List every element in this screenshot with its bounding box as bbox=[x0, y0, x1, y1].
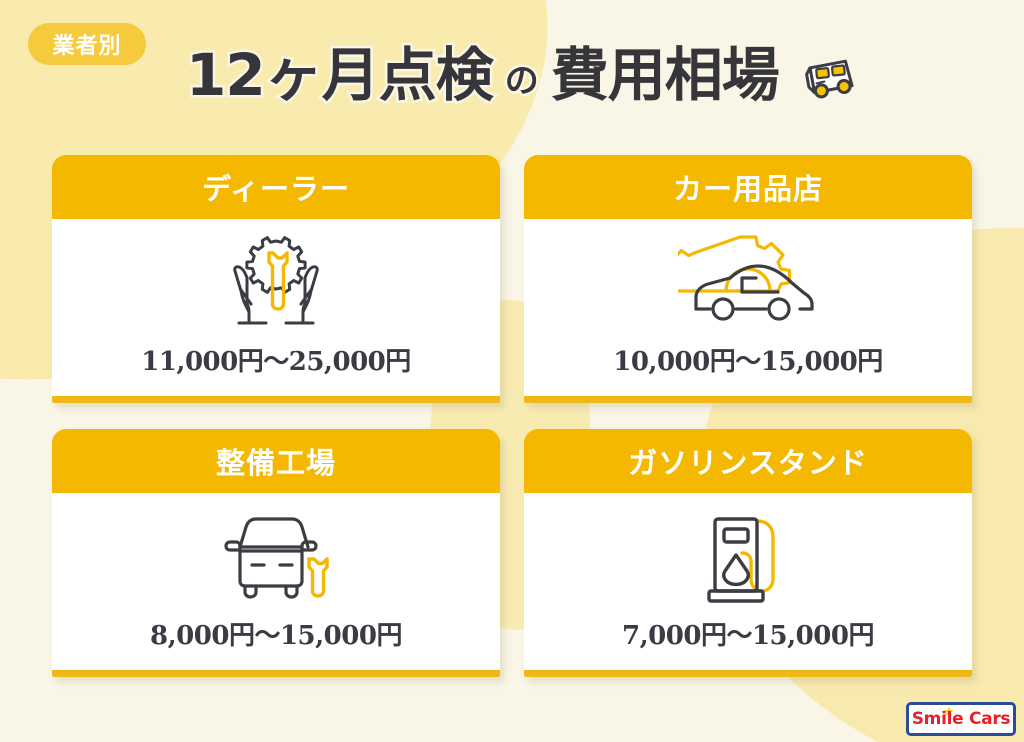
price-card-title: 整備工場 bbox=[216, 440, 336, 482]
price-card-title: ディーラー bbox=[202, 166, 350, 208]
price-card-repair-shop[interactable]: 整備工場 bbox=[52, 429, 500, 677]
brand-logo-text: Smile Cars bbox=[912, 709, 1011, 729]
hands-gear-wrench-icon bbox=[211, 229, 341, 337]
category-badge-label: 業者別 bbox=[52, 28, 121, 60]
category-badge: 業者別 bbox=[28, 23, 146, 65]
price-card-footer-bar bbox=[524, 670, 972, 677]
car-front-wrench-icon bbox=[214, 503, 339, 611]
price-card-body: 8,000円〜15,000円 bbox=[52, 493, 500, 670]
price-card-header: ディーラー bbox=[52, 155, 500, 219]
fuel-pump-icon bbox=[691, 503, 806, 611]
price-card-header: 整備工場 bbox=[52, 429, 500, 493]
page-title: 12ヶ月点検 の 費用相場 bbox=[186, 36, 859, 114]
price-card-footer-bar bbox=[52, 396, 500, 403]
price-card-footer-bar bbox=[52, 670, 500, 677]
price-card-amount: 8,000円〜15,000円 bbox=[150, 615, 402, 652]
price-card-header: カー用品店 bbox=[524, 155, 972, 219]
price-card-amount: 10,000円〜15,000円 bbox=[613, 341, 883, 378]
car-gear-icon bbox=[678, 229, 818, 337]
price-card-grid: ディーラー bbox=[52, 155, 972, 691]
page-title-sub: 費用相場 bbox=[551, 46, 779, 104]
price-card-body: 7,000円〜15,000円 bbox=[524, 493, 972, 670]
van-icon bbox=[799, 54, 859, 104]
price-card-auto-parts-store[interactable]: カー用品店 bbox=[524, 155, 972, 403]
price-card-gas-station[interactable]: ガソリンスタンド 7, bbox=[524, 429, 972, 677]
price-card-title: ガソリンスタンド bbox=[628, 440, 867, 482]
price-card-body: 11,000円〜25,000円 bbox=[52, 219, 500, 396]
price-card-header: ガソリンスタンド bbox=[524, 429, 972, 493]
price-card-footer-bar bbox=[524, 396, 972, 403]
page-header: 業者別 12ヶ月点検 の 費用相場 bbox=[0, 0, 1024, 140]
price-card-title: カー用品店 bbox=[673, 166, 823, 208]
page-title-main: 12ヶ月点検 bbox=[186, 46, 493, 104]
infographic-canvas: 業者別 12ヶ月点検 の 費用相場 bbox=[0, 0, 1024, 742]
page-title-particle: の bbox=[505, 64, 539, 98]
brand-logo[interactable]: ★ Smile Cars bbox=[906, 702, 1016, 736]
price-card-amount: 11,000円〜25,000円 bbox=[141, 341, 411, 378]
price-card-body: 10,000円〜15,000円 bbox=[524, 219, 972, 396]
price-card-dealer[interactable]: ディーラー bbox=[52, 155, 500, 403]
price-card-amount: 7,000円〜15,000円 bbox=[622, 615, 874, 652]
